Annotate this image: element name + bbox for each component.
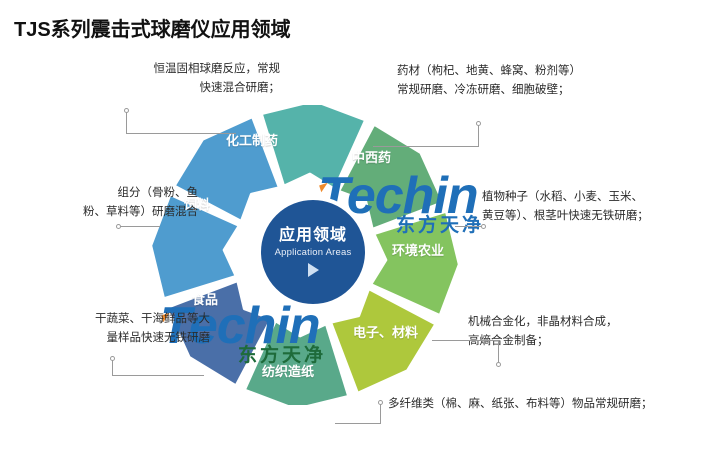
callout-line: 量样品快速无铁研磨 (10, 329, 210, 348)
page-title: TJS系列震击式球磨仪应用领域 (14, 13, 291, 42)
callout-line: 快速混合研磨； (80, 79, 280, 98)
callout-line: 常规研磨、冷冻研磨、细胞破壁； (397, 81, 687, 100)
callout-line: 恒温固相球磨反应，常规 (80, 60, 280, 79)
leader-dot (378, 400, 383, 405)
leader-horizontal (120, 226, 160, 227)
callout-feed: 组分（骨粉、鱼 粉、草料等）研磨混合 (8, 184, 198, 222)
hub-cn-label: 应用领域 (279, 227, 347, 245)
leader-line-environment-agriculture (455, 222, 483, 232)
leader-line-electronics-materials (432, 340, 498, 368)
callout-line: 高熵合金制备； (468, 332, 708, 351)
leader-dot (481, 224, 486, 229)
leader-dot (496, 362, 501, 367)
leader-vertical (478, 125, 479, 147)
callout-line: 组分（骨粉、鱼 (8, 184, 198, 203)
leader-line-chemical-pharma (126, 108, 236, 134)
leader-line-tcm-western-med (373, 121, 479, 147)
callout-textile-paper: 多纤维类（棉、麻、纸张、布料等）物品常规研磨； (388, 395, 718, 414)
leader-horizontal (126, 133, 236, 134)
leader-vertical (126, 112, 127, 134)
leader-horizontal (112, 375, 204, 376)
callout-line: 粉、草料等）研磨混合 (8, 203, 198, 222)
leader-horizontal (455, 226, 483, 227)
callout-line: 药材（枸杞、地黄、蜂窝、粉剂等） (397, 62, 687, 81)
callout-electronics-materials: 机械合金化，非晶材料合成， 高熵合金制备； (468, 313, 708, 351)
callout-line: 干蔬菜、干海鲜品等大 (10, 310, 210, 329)
callout-line: 黄豆等）、根茎叶快速无铁研磨； (482, 207, 726, 226)
center-hub[interactable]: 应用领域 Application Areas (257, 196, 369, 308)
leader-vertical (112, 360, 113, 376)
callout-line: 植物种子（水稻、小麦、玉米、 (482, 188, 726, 207)
callout-environment-agriculture: 植物种子（水稻、小麦、玉米、 黄豆等）、根茎叶快速无铁研磨； (482, 188, 726, 226)
leader-vertical (380, 404, 381, 424)
leader-vertical (498, 340, 499, 362)
leader-horizontal (432, 340, 498, 341)
leader-horizontal (335, 423, 380, 424)
infographic-canvas: TJS系列震击式球磨仪应用领域 化工制药 中西药 环境农业 电子、材料 纺织造纸… (0, 0, 726, 450)
hub-en-label: Application Areas (275, 247, 352, 258)
leader-line-feed (118, 222, 160, 232)
leader-horizontal (373, 146, 479, 147)
callout-tcm-western-med: 药材（枸杞、地黄、蜂窝、粉剂等） 常规研磨、冷冻研磨、细胞破壁； (397, 62, 687, 100)
callout-line: 多纤维类（棉、麻、纸张、布料等）物品常规研磨； (388, 395, 718, 414)
play-triangle-icon (308, 263, 319, 277)
callout-line: 机械合金化，非晶材料合成， (468, 313, 708, 332)
leader-line-food (112, 356, 204, 380)
callout-chemical-pharma: 恒温固相球磨反应，常规 快速混合研磨； (80, 60, 280, 98)
leader-line-textile-paper (335, 398, 395, 424)
callout-food: 干蔬菜、干海鲜品等大 量样品快速无铁研磨 (10, 310, 210, 348)
